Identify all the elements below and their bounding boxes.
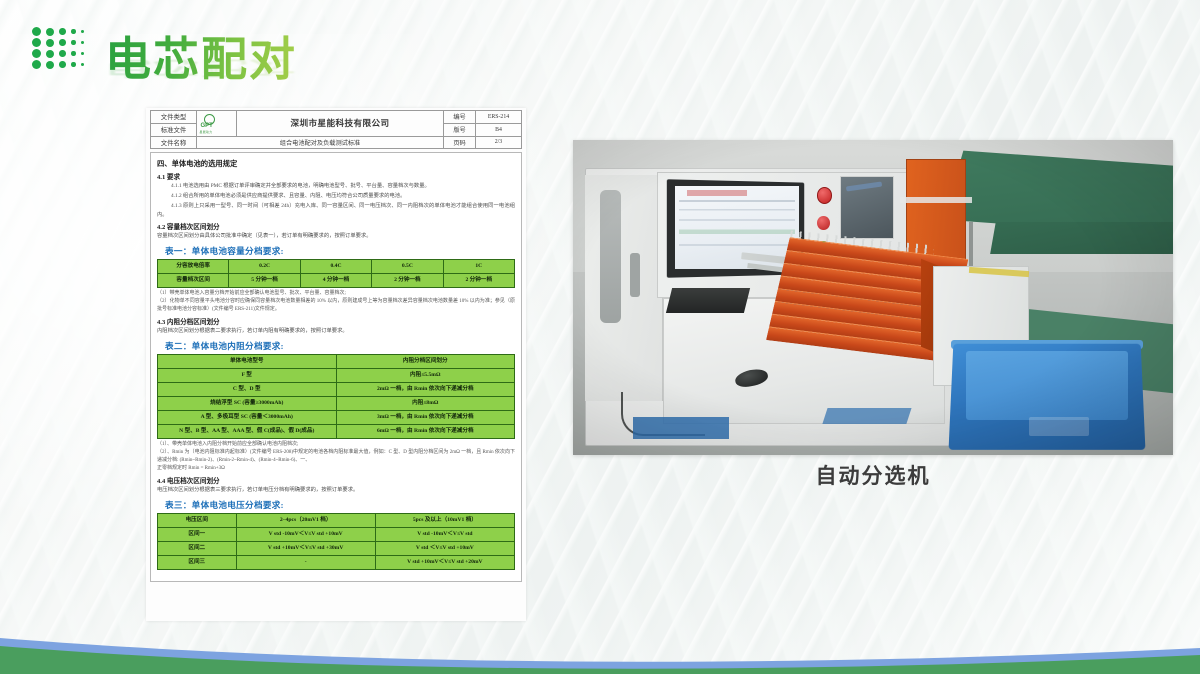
- subsection-42-title: 4.2 容量档次区间划分: [157, 221, 515, 231]
- table1-caption: 表一：单体电池容量分档要求:: [165, 245, 515, 257]
- cell: 2mΩ 一档，由 Rmin 依次向下递减分档: [336, 383, 515, 397]
- logo-dot: [32, 60, 41, 69]
- cell: V std ＜V≤V std +10mV: [375, 542, 514, 556]
- column-header: 内阻分档区间划分: [336, 355, 515, 369]
- table-row: 电压区间 2~4pcs（20mV1 档） 5pcs 及以上（10mV1 档）: [158, 513, 515, 527]
- cell: 内阻≤8mΩ: [336, 397, 515, 411]
- cell: N 型、B 型、AA 型、AAA 型、假 C(成品)、假 D(成品): [158, 425, 337, 439]
- table-voltage-grading: 电压区间 2~4pcs（20mV1 档） 5pcs 及以上（10mV1 档） 区…: [157, 513, 515, 571]
- logo-dot: [71, 29, 76, 34]
- table-row: 烧结浮型 SC (容量≥3000mAh) 内阻≤8mΩ: [158, 397, 515, 411]
- cell: V std +10mV＜V≤V std +30mV: [236, 542, 375, 556]
- subsection-44-title: 4.4 电压档次区间划分: [157, 475, 515, 485]
- cell: 电压区间: [158, 513, 237, 527]
- table-row: 容量档次区间 5 分钟一档 4 分钟一档 2 分钟一档 2 分钟一档: [158, 274, 515, 288]
- standard-doc-label: 标准文件: [151, 123, 197, 136]
- cell: 烧结浮型 SC (容量≥3000mAh): [158, 397, 337, 411]
- logo-dot: [81, 41, 84, 44]
- note-42-1: （1）带壳单体电池入容量分档开始前应全部确认电池型号、批次、平台量、容量档次;: [157, 290, 515, 298]
- logo-dot: [81, 63, 84, 66]
- table-row: 分容放电倍率 0.2C 0.4C 0.5C 1C: [158, 260, 515, 274]
- document-header-table: 文件类型 GPT 星能动力 深圳市星能科技有限公司 编号 ERS-214 标准文…: [150, 110, 522, 149]
- logo-dot: [46, 61, 54, 69]
- logo-dot: [71, 40, 76, 45]
- column-header: 单体电池型号: [158, 355, 337, 369]
- subsection-41-title: 4.1 要求: [157, 171, 515, 181]
- table2-caption: 表二：单体电池内阻分档要求:: [165, 340, 515, 352]
- ribbon-shapes: [0, 600, 1200, 674]
- cell: 6mΩ 一档，由 Rmin 依次向下递减分档: [336, 425, 515, 439]
- logo-dot: [59, 28, 66, 35]
- logo-dot: [81, 52, 84, 55]
- dot-grid-logo-icon: [32, 27, 94, 71]
- note-43-1: （1）、带壳单体电池入内阻分档开始前应全部确认电池内阻档次;: [157, 441, 515, 449]
- cell: 区间二: [158, 542, 237, 556]
- company-logo-cell: GPT 星能动力: [197, 111, 237, 137]
- note-43-2: （2）、Rmin 为（电池内阻标准内起标准）(文件编号 ERS-208)中规定的…: [157, 449, 515, 465]
- cell: 区间三: [158, 556, 237, 570]
- doc-number-label: 编号: [444, 111, 476, 124]
- cell: 0.2C: [229, 260, 300, 274]
- slide-root: 电芯配对 电芯配对 文件类型 GPT 星能动力 深圳市星能科技有限公司 编号: [0, 0, 1200, 674]
- cell: 4 分钟一档: [300, 274, 371, 288]
- cell: 0.4C: [300, 260, 371, 274]
- note-42-2: （2）化物单不同容量平头电池分容时应确保同容量档次电池数量相差的 10% 以内，…: [157, 298, 515, 314]
- doc-name-value: 组合电池配对及负载测试标准: [197, 136, 444, 149]
- slide-header: 电芯配对 电芯配对: [0, 0, 1200, 100]
- table-row: F 型 内阻≤5.5mΩ: [158, 369, 515, 383]
- automatic-sorting-machine-photo[interactable]: [573, 140, 1173, 455]
- logo-dot: [59, 61, 66, 68]
- logo-dot: [59, 39, 66, 46]
- table-row: 文件类型 GPT 星能动力 深圳市星能科技有限公司 编号 ERS-214: [151, 111, 522, 124]
- cell: V std +10mV＜V≤V std +20mV: [375, 556, 514, 570]
- doc-version-value: B4: [476, 123, 522, 136]
- cell: 1C: [443, 260, 514, 274]
- cell: 5pcs 及以上（10mV1 档）: [375, 513, 514, 527]
- cell: V std -10mV＜V≤V std: [375, 527, 514, 541]
- note-43-3: 正零档规定时 Rmin = Rmin+3Ω: [157, 465, 515, 473]
- table-row: C 型、D 型 2mΩ 一档，由 Rmin 依次向下递减分档: [158, 383, 515, 397]
- doc-page-label: 页码: [444, 136, 476, 149]
- gpt-logo-icon: GPT 星能动力: [200, 114, 234, 131]
- standard-document-scan[interactable]: 文件类型 GPT 星能动力 深圳市星能科技有限公司 编号 ERS-214 标准文…: [146, 108, 526, 621]
- cell: 0.5C: [372, 260, 443, 274]
- paragraph-43: 内阻档次区间划分根据表二要求执行，若订单内阻有明确要求的，按照订单要求。: [157, 327, 515, 336]
- logo-dot: [71, 51, 76, 56]
- cell: V std -10mV＜V≤V std +10mV: [236, 527, 375, 541]
- document-body: 四、单体电池的选用规定 4.1 要求 4.1.1 电池选用由 PMC 根据订单评…: [150, 152, 522, 582]
- subsection-43-title: 4.3 内阻分档区间划分: [157, 316, 515, 326]
- cell: 2 分钟一档: [443, 274, 514, 288]
- doc-name-label: 文件名称: [151, 136, 197, 149]
- cell: 区间一: [158, 527, 237, 541]
- bottom-ribbon: [0, 600, 1200, 674]
- table-row: 区间二 V std +10mV＜V≤V std +30mV V std ＜V≤V…: [158, 542, 515, 556]
- logo-dot: [59, 50, 66, 57]
- paragraph-44: 电压档次区间划分根据表三要求执行，若订单电压分档有明确要求的，按照订单要求。: [157, 486, 515, 495]
- doc-version-label: 版号: [444, 123, 476, 136]
- clause-411: 4.1.1 电池选用由 PMC 根据订单评审确定并全部要求的电池，明确电池型号、…: [157, 182, 515, 191]
- cell: -: [236, 556, 375, 570]
- logo-text: GPT: [201, 123, 213, 129]
- logo-subtext: 星能动力: [200, 130, 213, 134]
- table-internal-resistance-grading: 单体电池型号 内阻分档区间划分 F 型 内阻≤5.5mΩ C 型、D 型 2mΩ…: [157, 354, 515, 439]
- doc-type-label: 文件类型: [151, 111, 197, 124]
- cell: 5 分钟一档: [229, 274, 300, 288]
- logo-dot: [46, 28, 54, 36]
- table-capacity-grading: 分容放电倍率 0.2C 0.4C 0.5C 1C 容量档次区间 5 分钟一档 4…: [157, 259, 515, 288]
- cell: F 型: [158, 369, 337, 383]
- cell: 2 分钟一档: [372, 274, 443, 288]
- clause-413: 4.1.3 原则上只采用一型号、同一时间（可相差 24h）充电入库、同一容量区间…: [157, 202, 515, 219]
- section-title: 四、单体电池的选用规定: [157, 159, 515, 169]
- cell: 2~4pcs（20mV1 档）: [236, 513, 375, 527]
- cell: 3mΩ 一档，由 Rmin 依次向下递减分档: [336, 411, 515, 425]
- photo-caption: 自动分选机: [573, 460, 1173, 490]
- table-row: 区间三 - V std +10mV＜V≤V std +20mV: [158, 556, 515, 570]
- logo-dot: [81, 30, 84, 33]
- logo-dot: [32, 27, 41, 36]
- doc-number-value: ERS-214: [476, 111, 522, 124]
- cell: 容量档次区间: [158, 274, 229, 288]
- logo-dot: [32, 38, 41, 47]
- page-title: 电芯配对: [105, 33, 297, 86]
- cell: 分容放电倍率: [158, 260, 229, 274]
- table-row: N 型、B 型、AA 型、AAA 型、假 C(成品)、假 D(成品) 6mΩ 一…: [158, 425, 515, 439]
- logo-dot: [46, 50, 54, 58]
- clause-412: 4.1.2 组合所用的单体电池必须是供应商提供要求、且容量、内阻、电压均符合公司…: [157, 192, 515, 201]
- table-row: A 型、多极耳型 SC (容量＜3000mAh) 3mΩ 一档，由 Rmin 依…: [158, 411, 515, 425]
- logo-dot: [46, 39, 54, 47]
- company-name: 深圳市星能科技有限公司: [237, 111, 444, 137]
- table-row: 单体电池型号 内阻分档区间划分: [158, 355, 515, 369]
- photo-vignette: [573, 140, 1173, 455]
- cell: 内阻≤5.5mΩ: [336, 369, 515, 383]
- logo-dot: [71, 62, 76, 67]
- table-row: 区间一 V std -10mV＜V≤V std +10mV V std -10m…: [158, 527, 515, 541]
- cell: C 型、D 型: [158, 383, 337, 397]
- cell: A 型、多极耳型 SC (容量＜3000mAh): [158, 411, 337, 425]
- paragraph-42: 容量档次区间划分由具体公司批准中确定（见表一），若订单有明确要求的，按照订单要求…: [157, 232, 515, 241]
- logo-dot: [32, 49, 41, 58]
- doc-page-value: 2/3: [476, 136, 522, 149]
- table-row: 文件名称 组合电池配对及负载测试标准 页码 2/3: [151, 136, 522, 149]
- table3-caption: 表三：单体电池电压分档要求:: [165, 499, 515, 511]
